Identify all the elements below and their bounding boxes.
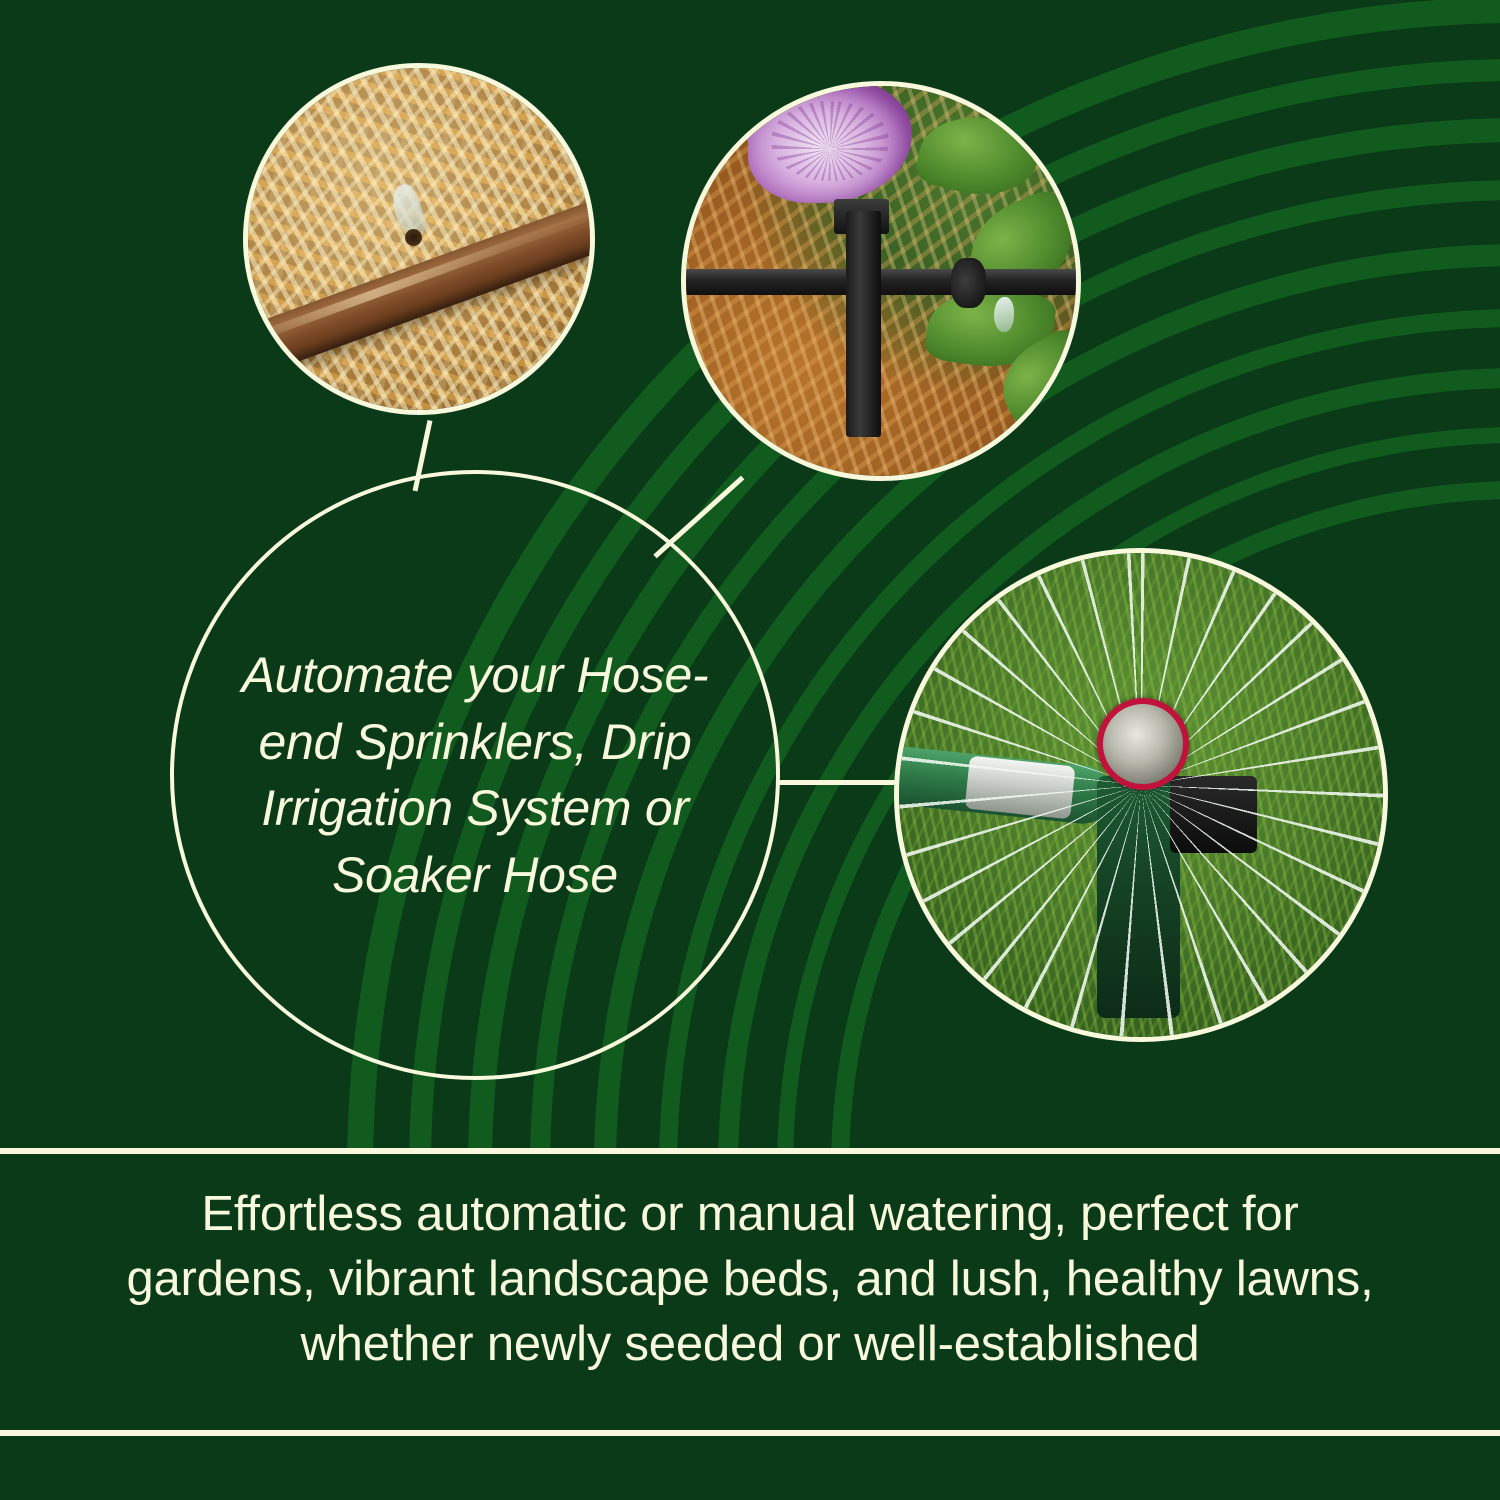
photo-rotating-sprinkler xyxy=(894,548,1388,1042)
divider-bottom xyxy=(0,1430,1500,1436)
divider-top xyxy=(0,1148,1500,1154)
hub-headline: Automate your Hose-end Sprinklers, Drip … xyxy=(216,642,734,908)
caption-text: Effortless automatic or manual watering,… xyxy=(120,1182,1380,1377)
straw-mulch-drip-tubing-photo xyxy=(248,68,590,410)
connector-hub-to-sprinkler xyxy=(777,780,899,785)
photo-drip-emitter-petunia xyxy=(681,81,1081,481)
photo-straw-drip-line xyxy=(243,63,595,415)
hub-circle: Automate your Hose-end Sprinklers, Drip … xyxy=(170,470,780,1080)
promo-poster: Automate your Hose-end Sprinklers, Drip … xyxy=(0,0,1500,1500)
drip-emitter-stake-petunia-photo xyxy=(686,86,1076,476)
rotating-sprinkler-head-photo xyxy=(899,553,1383,1037)
